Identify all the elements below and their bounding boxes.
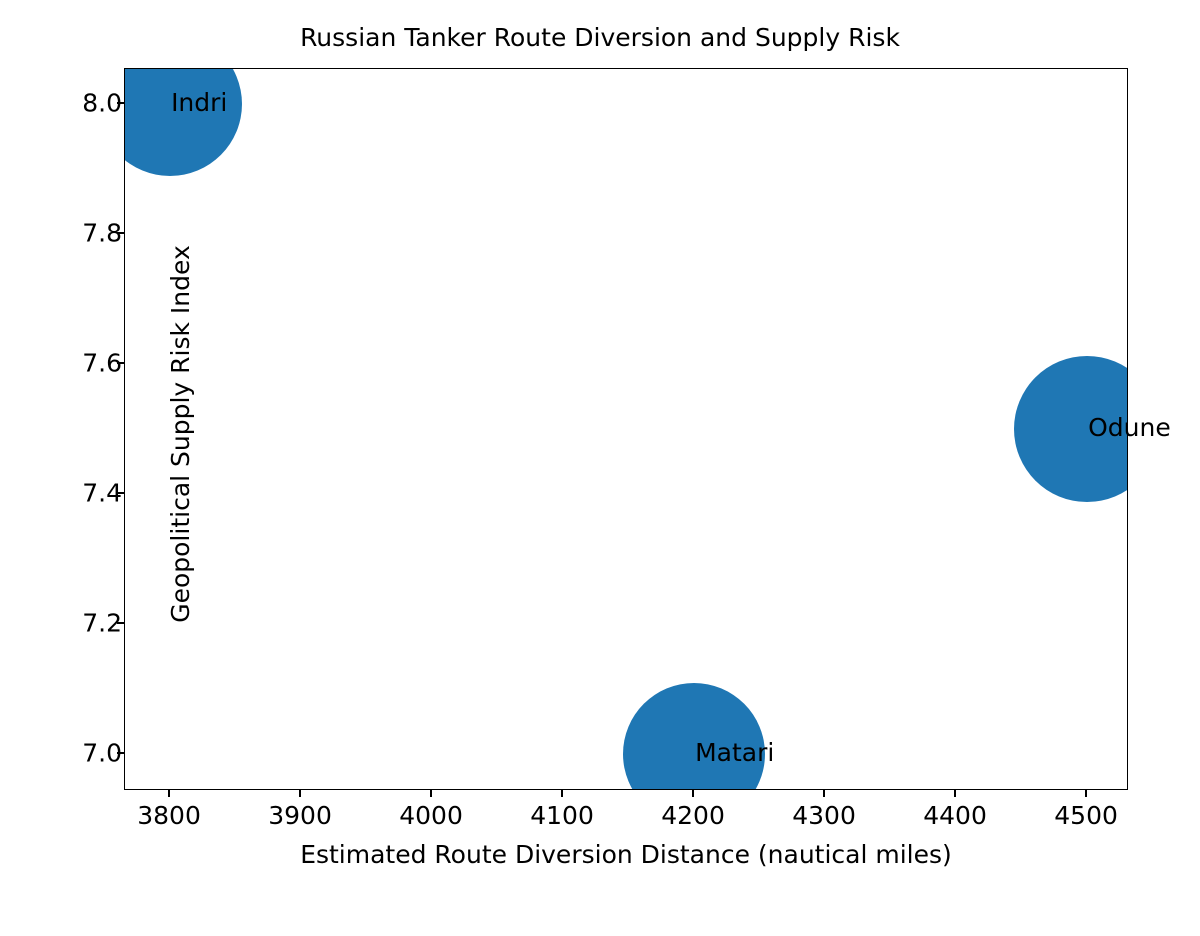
data-point-label: Odune: [1088, 415, 1171, 440]
x-tick-mark: [954, 790, 956, 797]
data-point-label: Matari: [695, 740, 774, 765]
y-tick-label: 7.2: [82, 610, 122, 635]
y-tick-label: 7.4: [82, 481, 122, 506]
x-tick-label: 4500: [1054, 801, 1118, 830]
y-tick-label: 7.0: [82, 740, 122, 765]
x-tick-label: 4400: [923, 801, 987, 830]
y-tick-label: 8.0: [82, 91, 122, 116]
chart-figure: Russian Tanker Route Diversion and Suppl…: [0, 0, 1200, 900]
x-tick-mark: [561, 790, 563, 797]
x-tick-mark: [823, 790, 825, 797]
x-tick-mark: [430, 790, 432, 797]
x-tick-mark: [1085, 790, 1087, 797]
x-axis-label: Estimated Route Diversion Distance (naut…: [124, 840, 1128, 870]
y-tick-label: 7.6: [82, 351, 122, 376]
y-axis-label: Geopolitical Supply Risk Index: [166, 0, 196, 936]
x-tick-label: 4100: [530, 801, 594, 830]
x-tick-label: 3900: [268, 801, 332, 830]
x-tick-mark: [299, 790, 301, 797]
plot-area: [124, 68, 1128, 790]
data-point-bubble[interactable]: [623, 683, 765, 790]
y-tick-label: 7.8: [82, 221, 122, 246]
x-tick-label: 4200: [661, 801, 725, 830]
x-tick-label: 4000: [399, 801, 463, 830]
x-tick-label: 4300: [792, 801, 856, 830]
x-tick-mark: [692, 790, 694, 797]
